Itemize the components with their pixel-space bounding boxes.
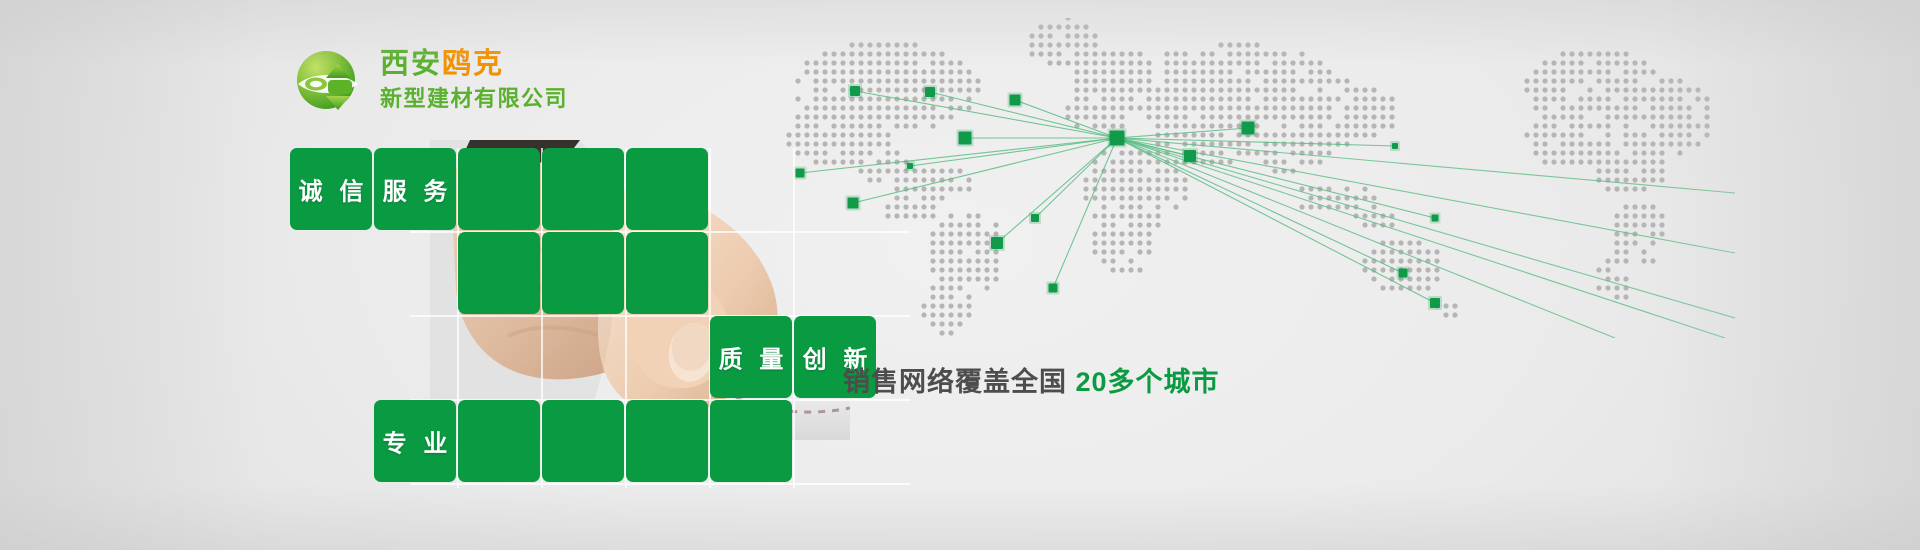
- mosaic-tile: [626, 148, 708, 230]
- mosaic-tile-labeled: 专 业: [374, 400, 456, 482]
- network-tagline: 销售网络覆盖全国 20多个城市: [843, 360, 1220, 399]
- mosaic-tile-label: 质 量: [710, 340, 792, 375]
- tagline-dark-text: 销售网络覆盖全国: [843, 367, 1067, 397]
- mosaic-tile-labeled: 服 务: [374, 148, 456, 230]
- mosaic-gridline-horizontal: [410, 483, 910, 485]
- logo-line-2: 新型建材有限公司: [380, 88, 568, 110]
- company-logo[interactable]: 西安鸥克 新型建材有限公司: [292, 44, 568, 116]
- mosaic-tile: [626, 400, 708, 482]
- map-connection-lines: [800, 91, 1735, 338]
- mosaic-tile: [710, 400, 792, 482]
- hero-banner: 西安鸥克 新型建材有限公司: [0, 0, 1920, 550]
- mosaic-tile: [458, 148, 540, 230]
- mosaic-tile-label: 服 务: [374, 172, 456, 207]
- mosaic-tile: [458, 400, 540, 482]
- mosaic-tile-labeled: 质 量: [710, 316, 792, 398]
- logo-line-1: 西安鸥克: [380, 50, 568, 79]
- mosaic-tile: [542, 148, 624, 230]
- mosaic-tile-labeled: 诚 信: [290, 148, 372, 230]
- mosaic-tile: [542, 400, 624, 482]
- mosaic-tile: [542, 232, 624, 314]
- values-mosaic: 诚 信服 务质 量创 新专 业: [290, 148, 904, 420]
- logo-brand-name: 鸥克: [442, 48, 504, 80]
- mosaic-tile: [626, 232, 708, 314]
- mosaic-tile: [458, 232, 540, 314]
- mosaic-tile-label: 专 业: [374, 424, 456, 459]
- mosaic-tile-label: 诚 信: [290, 172, 372, 207]
- tagline-green-text: 20多个城市: [1076, 367, 1220, 397]
- logo-city-name: 西安: [380, 48, 442, 80]
- logo-wordmark: 西安鸥克 新型建材有限公司: [380, 50, 568, 110]
- leaf-globe-logo-icon: [292, 44, 364, 116]
